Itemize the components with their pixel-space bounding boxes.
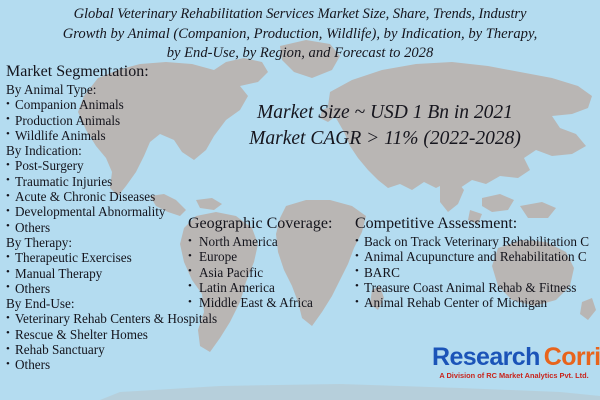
list-item: Wildlife Animals <box>6 128 221 143</box>
competitive-assessment-section: Competitive Assessment: Back on Track Ve… <box>355 214 600 310</box>
list-item: Acute & Chronic Diseases <box>6 189 221 204</box>
geographic-coverage-heading: Geographic Coverage: <box>188 214 358 233</box>
list-item: Middle East & Africa <box>188 295 358 310</box>
segmentation-list-animal-type: Companion Animals Production Animals Wil… <box>6 97 221 143</box>
segmentation-group-label-indication: By Indication: <box>6 143 221 158</box>
list-item: Back on Track Veterinary Rehabilitation … <box>355 234 600 249</box>
infographic-canvas: Global Veterinary Rehabilitation Service… <box>0 0 600 400</box>
competitive-assessment-list: Back on Track Veterinary Rehabilitation … <box>355 234 600 310</box>
logo-tagline: A Division of RC Market Analytics Pvt. L… <box>432 371 596 380</box>
geographic-coverage-list: North America Europe Asia Pacific Latin … <box>188 234 358 310</box>
title-line-2: Growth by Animal (Companion, Production,… <box>8 25 592 45</box>
market-segmentation-heading: Market Segmentation: <box>6 62 221 81</box>
list-item: Latin America <box>188 280 358 295</box>
list-item: North America <box>188 234 358 249</box>
list-item: Asia Pacific <box>188 265 358 280</box>
logo-word-corridor: Corridor <box>544 343 600 371</box>
list-item: Production Animals <box>6 113 221 128</box>
segmentation-list-end-use: Veterinary Rehab Centers & Hospitals Res… <box>6 311 221 372</box>
competitive-assessment-heading: Competitive Assessment: <box>355 214 600 233</box>
segmentation-group-label-animal-type: By Animal Type: <box>6 82 221 97</box>
list-item: Animal Rehab Center of Michigan <box>355 295 600 310</box>
logo-wordmark: ResearchCorridor <box>432 344 596 371</box>
list-item: Rescue & Shelter Homes <box>6 327 221 342</box>
geographic-coverage-section: Geographic Coverage: North America Europ… <box>188 214 358 310</box>
list-item: Treasure Coast Animal Rehab & Fitness <box>355 280 600 295</box>
list-item: Others <box>6 357 221 372</box>
content-layer: Global Veterinary Rehabilitation Service… <box>0 0 600 400</box>
market-size-stat: Market Size ~ USD 1 Bn in 2021 <box>205 100 565 126</box>
list-item: Post-Surgery <box>6 158 221 173</box>
list-item: Animal Acupuncture and Rehabilitation C <box>355 249 600 264</box>
list-item: Europe <box>188 249 358 264</box>
list-item: Veterinary Rehab Centers & Hospitals <box>6 311 221 326</box>
list-item: Traumatic Injuries <box>6 174 221 189</box>
market-stats: Market Size ~ USD 1 Bn in 2021 Market CA… <box>205 100 565 152</box>
list-item: Rehab Sanctuary <box>6 342 221 357</box>
list-item: BARC <box>355 265 600 280</box>
list-item: Companion Animals <box>6 97 221 112</box>
market-cagr-stat: Market CAGR > 11% (2022-2028) <box>205 126 565 152</box>
research-corridor-logo: ResearchCorridor A Division of RC Market… <box>432 344 596 380</box>
title-line-3: by End-Use, by Region, and Forecast to 2… <box>8 44 592 64</box>
page-title: Global Veterinary Rehabilitation Service… <box>8 5 592 64</box>
logo-word-research: Research <box>432 343 540 371</box>
title-line-1: Global Veterinary Rehabilitation Service… <box>8 5 592 25</box>
